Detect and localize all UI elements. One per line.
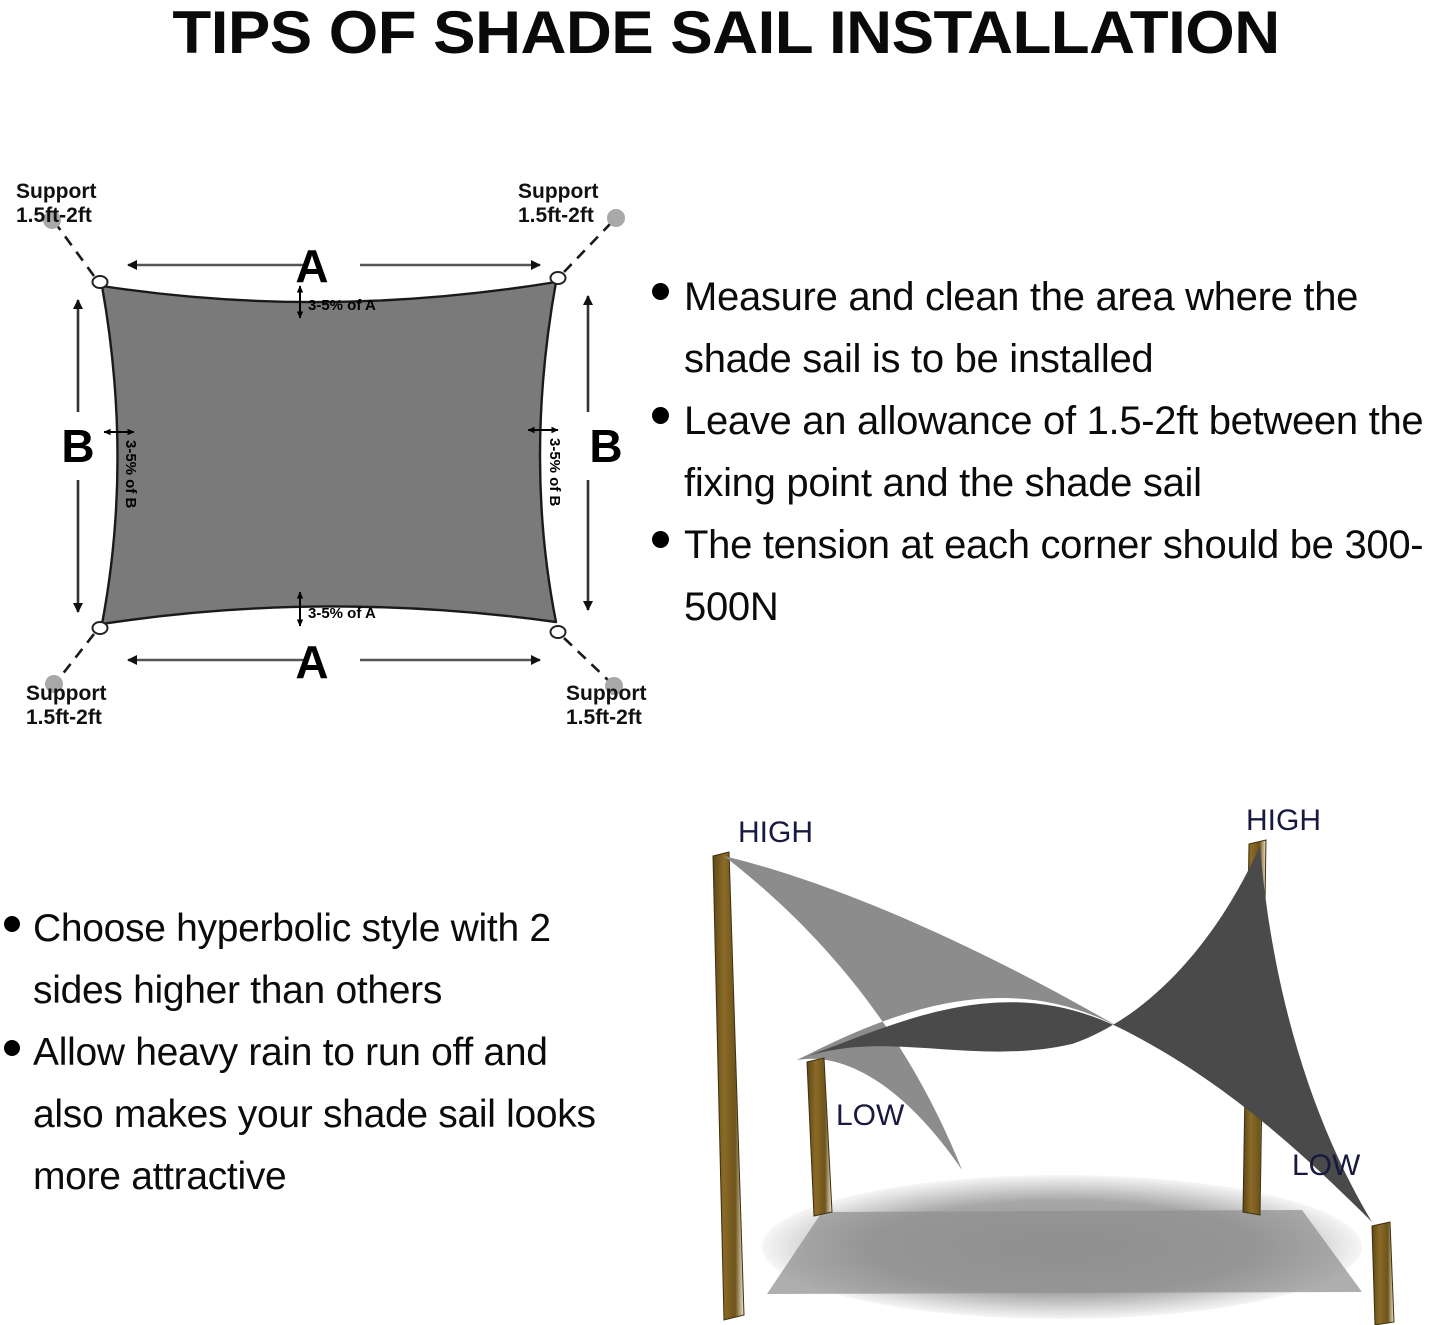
list-item: The tension at each corner should be 300… [652, 514, 1452, 638]
tip-text: The tension at each corner should be 300… [684, 514, 1452, 638]
label-high-right: HIGH [1246, 804, 1321, 837]
support-label-top-right-line1: Support [518, 180, 598, 203]
list-item: Choose hyperbolic style with 2 sides hig… [4, 898, 624, 1022]
bullet-dot-icon [652, 531, 669, 548]
dimension-label-bottom-a: A [295, 636, 328, 688]
curvature-label-right: 3-5% of B [546, 438, 563, 507]
dimension-label-left-b: B [61, 420, 94, 472]
d-ring-top-left [93, 276, 108, 288]
tip-text: Allow heavy rain to run off and also mak… [33, 1022, 624, 1208]
label-low-right: LOW [1292, 1149, 1361, 1182]
curvature-label-top: 3-5% of A [308, 297, 376, 314]
support-label-bottom-left-line1: Support [26, 682, 106, 705]
bullet-dot-icon [652, 407, 669, 424]
support-label-bottom-right-line1: Support [566, 682, 646, 705]
support-label-top-right-line2: 1.5ft-2ft [518, 204, 594, 227]
tip-text: Choose hyperbolic style with 2 sides hig… [33, 898, 624, 1022]
hyperbolic-sail-diagram: HIGH HIGH LOW LOW [672, 792, 1452, 1325]
label-low-left: LOW [836, 1099, 905, 1132]
curvature-label-bottom: 3-5% of A [308, 605, 376, 622]
label-high-left: HIGH [738, 816, 813, 849]
curvature-label-left: 3-5% of B [122, 440, 139, 509]
list-item: Leave an allowance of 1.5-2ft between th… [652, 390, 1452, 514]
ground-shadow [762, 1175, 1362, 1319]
bullet-dot-icon [652, 283, 669, 300]
support-label-top-left: Support 1.5ft-2ft [16, 180, 96, 227]
support-label-bottom-right-line2: 1.5ft-2ft [566, 706, 642, 729]
support-label-bottom-left-line2: 1.5ft-2ft [26, 706, 102, 729]
support-label-top-left-line1: Support [16, 180, 96, 203]
support-label-top-right: Support 1.5ft-2ft [518, 180, 598, 227]
list-item: Measure and clean the area where the sha… [652, 266, 1452, 390]
page-title: TIPS OF SHADE SAIL INSTALLATION [0, 2, 1452, 64]
rope-bottom-right [564, 638, 610, 682]
post-low-right [1372, 1222, 1394, 1325]
bullet-dot-icon [4, 916, 20, 932]
tip-text: Measure and clean the area where the sha… [684, 266, 1452, 390]
post-low-left [807, 1058, 832, 1216]
rope-top-right [564, 222, 612, 272]
rope-top-left [56, 224, 94, 276]
support-dot-top-right [607, 209, 625, 227]
installation-tips-list: Measure and clean the area where the sha… [652, 266, 1452, 638]
list-item: Allow heavy rain to run off and also mak… [4, 1022, 624, 1208]
rope-bottom-left [58, 634, 94, 680]
dimension-label-right-b: B [589, 420, 622, 472]
support-label-bottom-left: Support 1.5ft-2ft [26, 682, 106, 729]
infographic-page: TIPS OF SHADE SAIL INSTALLATION [0, 0, 1452, 1325]
support-label-bottom-right: Support 1.5ft-2ft [566, 682, 646, 729]
dimension-label-top-a: A [295, 240, 328, 292]
tip-text: Leave an allowance of 1.5-2ft between th… [684, 390, 1452, 514]
bullet-dot-icon [4, 1040, 20, 1056]
d-ring-bottom-right [551, 626, 566, 638]
post-high-left [713, 852, 744, 1320]
sail-dark [797, 846, 1372, 1222]
hyperbolic-style-tips-list: Choose hyperbolic style with 2 sides hig… [4, 898, 624, 1208]
d-ring-bottom-left [93, 622, 108, 634]
support-label-top-left-line2: 1.5ft-2ft [16, 204, 92, 227]
rectangular-sail-diagram: Support 1.5ft-2ft Support 1.5ft-2ft Supp… [0, 160, 648, 740]
sail-shape [102, 282, 556, 624]
d-ring-top-right [551, 272, 566, 284]
